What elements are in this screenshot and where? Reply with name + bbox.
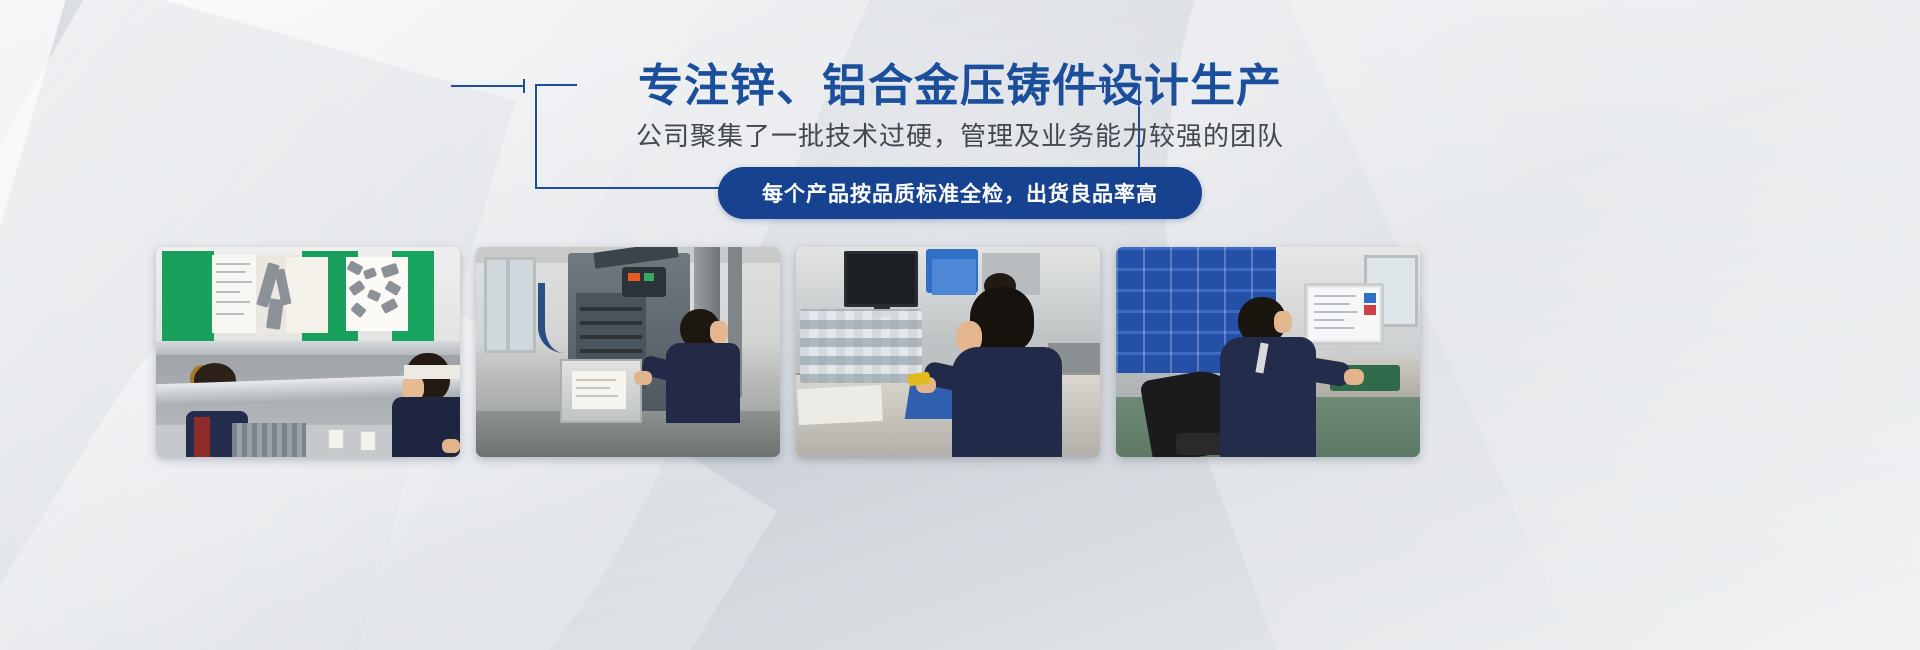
photo-packing-station: [796, 247, 1100, 457]
quality-badge: 每个产品按品质标准全检，出货良品率高: [718, 167, 1202, 219]
promo-banner: 专注锌、铝合金压铸件设计生产 公司聚集了一批技术过硬，管理及业务能力较强的团队 …: [0, 0, 1920, 650]
photo-strip: [156, 247, 1766, 457]
photo-inspection-bench: [156, 247, 460, 457]
photo-die-casting-machine: [476, 247, 780, 457]
page-title: 专注锌、铝合金压铸件设计生产: [0, 60, 1920, 112]
photo-office-workstation: [1116, 247, 1420, 457]
page-subtitle: 公司聚集了一批技术过硬，管理及业务能力较强的团队: [0, 120, 1920, 154]
